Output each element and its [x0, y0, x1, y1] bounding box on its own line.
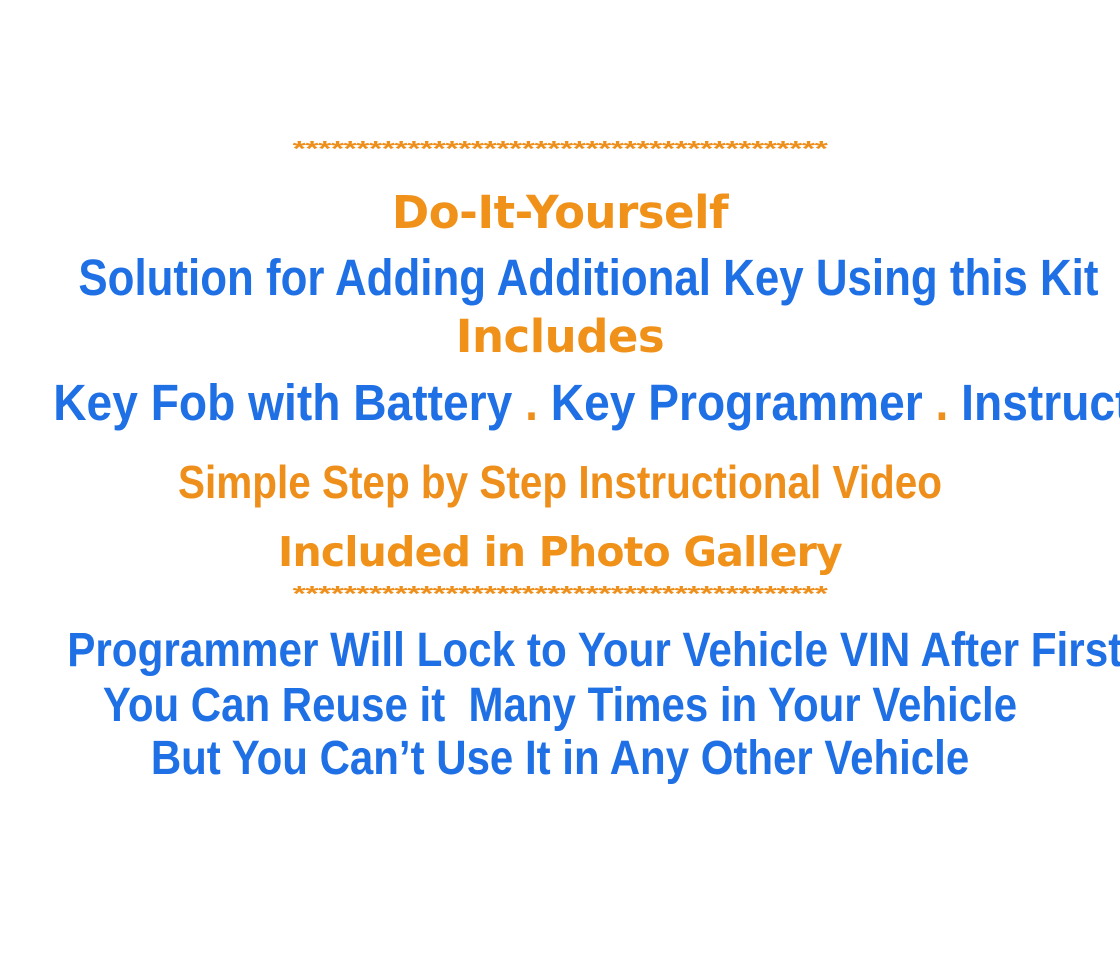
promo-banner: ****************************************… — [0, 0, 1120, 956]
notice-line-reuse: You Can Reuse it Many Times in Your Vehi… — [70, 682, 1050, 730]
asterisk-divider-bottom: ****************************************… — [0, 583, 1120, 604]
photo-gallery-line: Included in Photo Gallery — [0, 532, 1120, 573]
kit-content-item-instructions-manual: Instructions Manual — [961, 374, 1120, 431]
kit-contents-list: Key Fob with Battery . Key Programmer . … — [53, 377, 1067, 428]
notice-line-vin-lock: Programmer Will Lock to Your Vehicle VIN… — [67, 627, 1053, 675]
notice-line-restriction: But You Can’t Use It in Any Other Vehicl… — [70, 735, 1050, 783]
asterisk-divider-top: ****************************************… — [0, 138, 1120, 159]
kit-content-item-key-programmer: Key Programmer — [551, 374, 923, 431]
headline-do-it-yourself: Do-It-Yourself — [0, 190, 1120, 235]
kit-content-item-key-fob: Key Fob with Battery — [53, 374, 512, 431]
subheadline-solution: Solution for Adding Additional Key Using… — [78, 252, 1041, 303]
kit-content-separator-2: . — [923, 374, 961, 431]
includes-label: Includes — [0, 314, 1120, 359]
kit-content-separator-1: . — [512, 374, 550, 431]
instructional-video-line: Simple Step by Step Instructional Video — [67, 459, 1053, 505]
